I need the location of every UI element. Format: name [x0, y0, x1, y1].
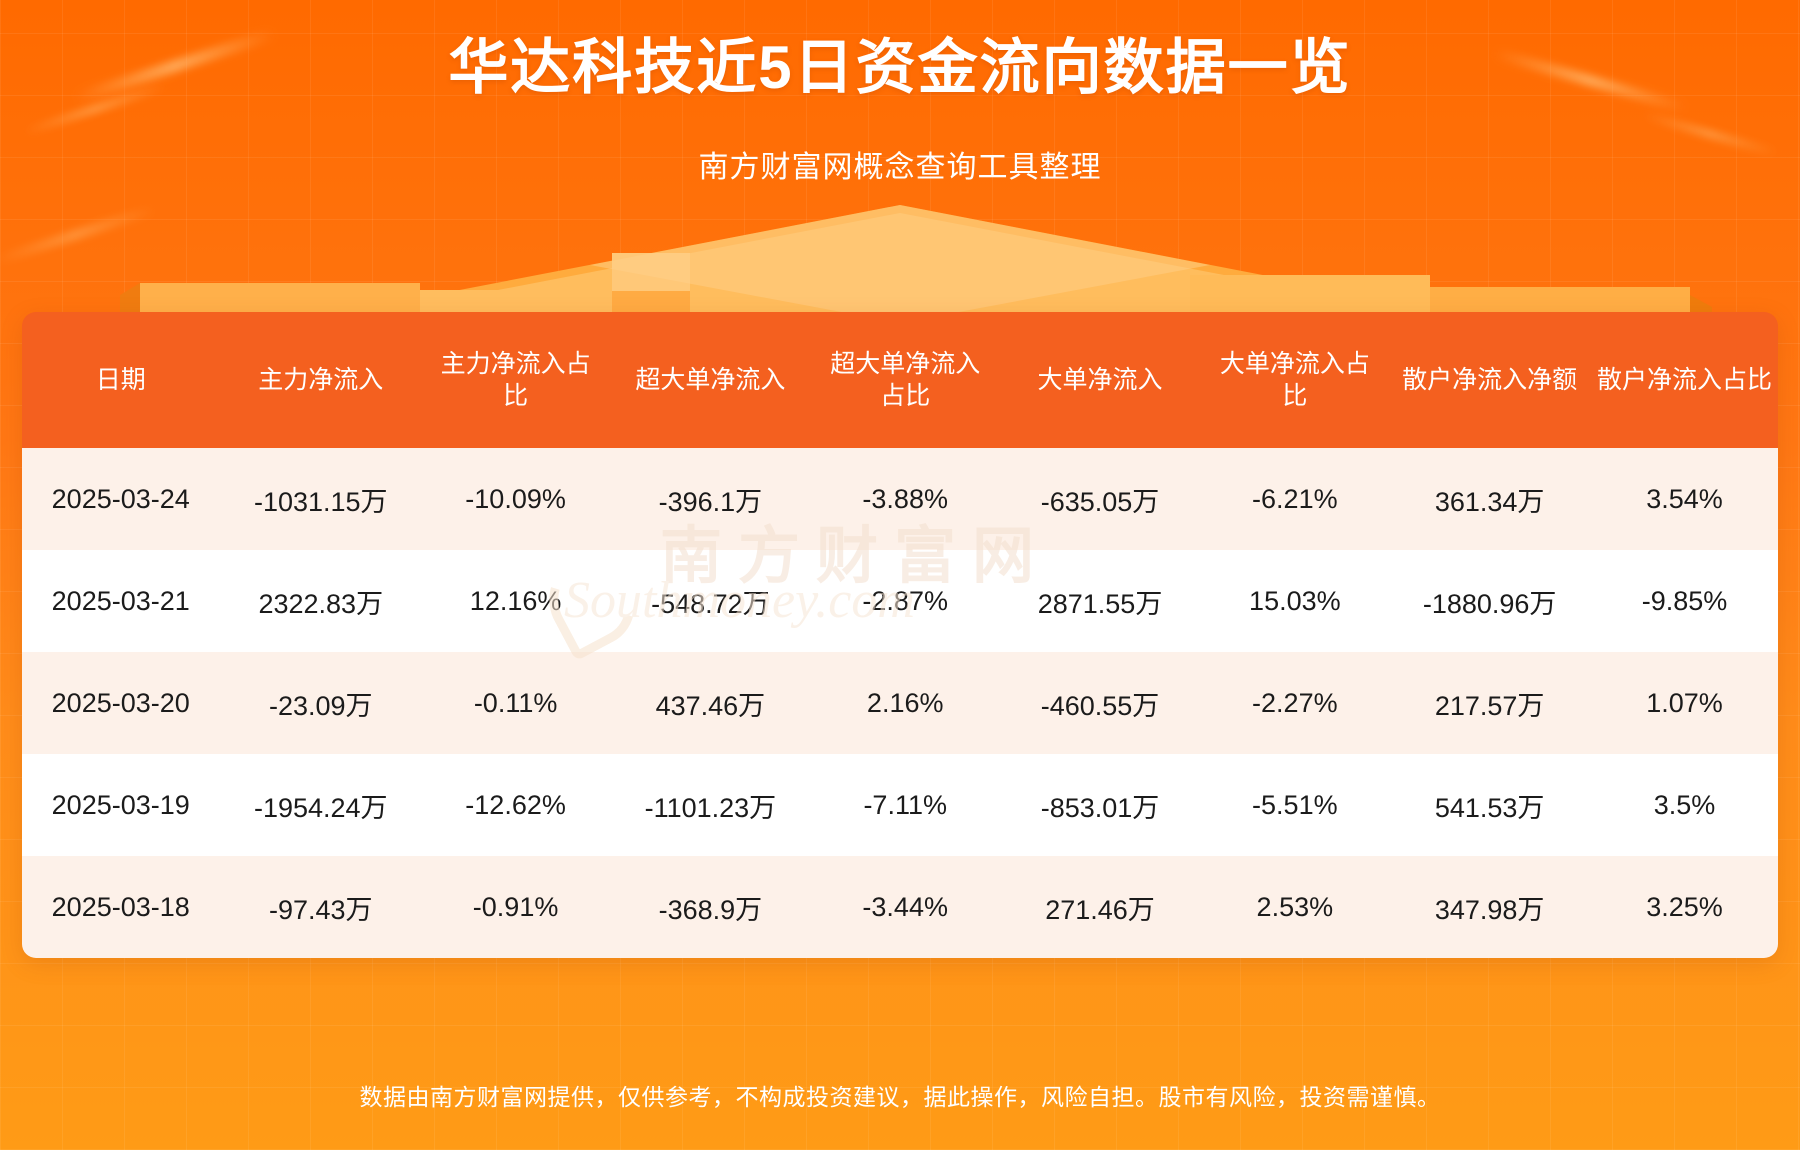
disclaimer-text: 数据由南方财富网提供，仅供参考，不构成投资建议，据此操作，风险自担。股市有风险，…: [0, 1078, 1800, 1112]
page-subtitle: 南方财富网概念查询工具整理: [0, 142, 1800, 186]
column-header-main-pct[interactable]: 主力净流入占比: [422, 312, 609, 448]
cell-retail-pct: 3.5%: [1591, 754, 1778, 856]
cell-xl-pct: -3.88%: [812, 448, 999, 550]
cell-retail-net: 361.34万: [1388, 448, 1591, 550]
cell-retail-pct: 3.25%: [1591, 856, 1778, 958]
cell-date: 2025-03-20: [22, 652, 219, 754]
cell-main-net: -23.09万: [219, 652, 422, 754]
cell-main-net: 2322.83万: [219, 550, 422, 652]
cell-lg-net: -635.05万: [999, 448, 1202, 550]
cell-xl-net: 437.46万: [609, 652, 812, 754]
table-row: 2025-03-20 -23.09万 -0.11% 437.46万 2.16% …: [22, 652, 1778, 754]
cell-xl-net: -1101.23万: [609, 754, 812, 856]
cell-retail-pct: 3.54%: [1591, 448, 1778, 550]
page-title: 华达科技近5日资金流向数据一览: [0, 34, 1800, 101]
cell-lg-net: -460.55万: [999, 652, 1202, 754]
cell-main-pct: -10.09%: [422, 448, 609, 550]
cell-main-net: -1954.24万: [219, 754, 422, 856]
table-header-row: 日期 主力净流入 主力净流入占比 超大单净流入 超大单净流入占比 大单净流入 大…: [22, 312, 1778, 448]
cell-main-net: -97.43万: [219, 856, 422, 958]
column-header-date[interactable]: 日期: [22, 312, 219, 448]
fund-flow-table: 日期 主力净流入 主力净流入占比 超大单净流入 超大单净流入占比 大单净流入 大…: [22, 312, 1778, 958]
cell-lg-pct: -2.27%: [1201, 652, 1388, 754]
cell-retail-net: 347.98万: [1388, 856, 1591, 958]
cell-date: 2025-03-18: [22, 856, 219, 958]
cell-lg-pct: -5.51%: [1201, 754, 1388, 856]
cell-main-pct: -12.62%: [422, 754, 609, 856]
cell-date: 2025-03-24: [22, 448, 219, 550]
cell-lg-pct: 15.03%: [1201, 550, 1388, 652]
cell-retail-net: -1880.96万: [1388, 550, 1591, 652]
cell-retail-net: 541.53万: [1388, 754, 1591, 856]
cell-main-pct: -0.11%: [422, 652, 609, 754]
cell-xl-net: -368.9万: [609, 856, 812, 958]
table-row: 2025-03-24 -1031.15万 -10.09% -396.1万 -3.…: [22, 448, 1778, 550]
page-root: 华达科技近5日资金流向数据一览 南方财富网概念查询工具整理 日期 主力净流入 主…: [0, 0, 1800, 1150]
cell-lg-pct: -6.21%: [1201, 448, 1388, 550]
table-row: 2025-03-19 -1954.24万 -12.62% -1101.23万 -…: [22, 754, 1778, 856]
table-row: 2025-03-21 2322.83万 12.16% -548.72万 -2.8…: [22, 550, 1778, 652]
cell-xl-pct: -7.11%: [812, 754, 999, 856]
column-header-retail-pct[interactable]: 散户净流入占比: [1591, 312, 1778, 448]
cell-lg-net: 2871.55万: [999, 550, 1202, 652]
cell-main-pct: -0.91%: [422, 856, 609, 958]
decorative-streak: [0, 204, 157, 266]
cell-main-net: -1031.15万: [219, 448, 422, 550]
fund-flow-table-card: 日期 主力净流入 主力净流入占比 超大单净流入 超大单净流入占比 大单净流入 大…: [22, 312, 1778, 958]
cell-date: 2025-03-21: [22, 550, 219, 652]
column-header-xl-pct[interactable]: 超大单净流入占比: [812, 312, 999, 448]
cell-lg-net: 271.46万: [999, 856, 1202, 958]
cell-xl-pct: 2.16%: [812, 652, 999, 754]
cell-date: 2025-03-19: [22, 754, 219, 856]
column-header-xl-net[interactable]: 超大单净流入: [609, 312, 812, 448]
table-row: 2025-03-18 -97.43万 -0.91% -368.9万 -3.44%…: [22, 856, 1778, 958]
cell-xl-pct: -2.87%: [812, 550, 999, 652]
cell-retail-pct: 1.07%: [1591, 652, 1778, 754]
cell-retail-pct: -9.85%: [1591, 550, 1778, 652]
cell-xl-pct: -3.44%: [812, 856, 999, 958]
cell-lg-net: -853.01万: [999, 754, 1202, 856]
cell-xl-net: -396.1万: [609, 448, 812, 550]
cell-retail-net: 217.57万: [1388, 652, 1591, 754]
column-header-lg-pct[interactable]: 大单净流入占比: [1201, 312, 1388, 448]
cell-xl-net: -548.72万: [609, 550, 812, 652]
column-header-retail-net[interactable]: 散户净流入净额: [1388, 312, 1591, 448]
column-header-main-net[interactable]: 主力净流入: [219, 312, 422, 448]
cell-lg-pct: 2.53%: [1201, 856, 1388, 958]
cell-main-pct: 12.16%: [422, 550, 609, 652]
column-header-lg-net[interactable]: 大单净流入: [999, 312, 1202, 448]
